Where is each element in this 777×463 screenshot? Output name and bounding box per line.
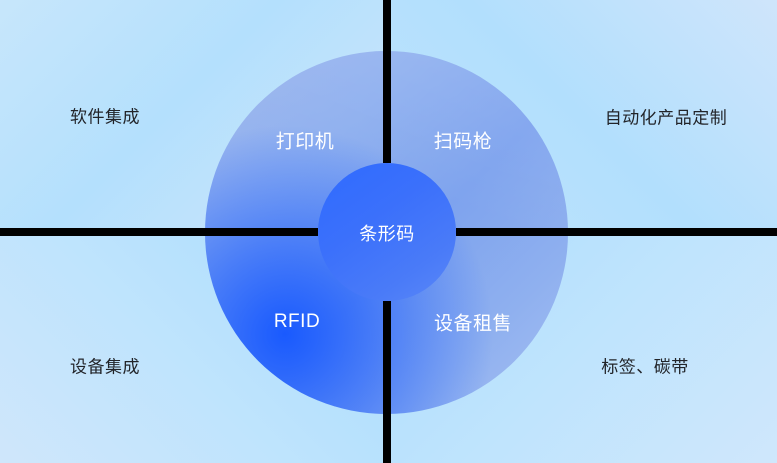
center-circle-label: 条形码 bbox=[359, 220, 415, 246]
horizontal-axis-right-segment bbox=[456, 228, 777, 236]
vertical-axis-top-segment bbox=[383, 0, 391, 163]
quadrant-diagram: 条形码 打印机 扫码枪 RFID 设备租售 软件集成 自动化产品定制 设备集成 … bbox=[0, 0, 777, 463]
corner-label-labels-ribbons: 标签、碳带 bbox=[601, 353, 689, 378]
corner-label-equipment-integration: 设备集成 bbox=[70, 353, 140, 378]
ring-label-equipment-rental: 设备租售 bbox=[434, 309, 512, 336]
vertical-axis-bottom-segment bbox=[383, 301, 391, 463]
ring-label-scanner: 扫码枪 bbox=[434, 127, 493, 154]
ring-label-rfid: RFID bbox=[274, 311, 320, 333]
horizontal-axis-left-segment bbox=[0, 228, 318, 236]
corner-label-software-integration: 软件集成 bbox=[70, 103, 140, 128]
ring-label-printer: 打印机 bbox=[276, 127, 335, 154]
corner-label-automation-customization: 自动化产品定制 bbox=[605, 104, 728, 129]
